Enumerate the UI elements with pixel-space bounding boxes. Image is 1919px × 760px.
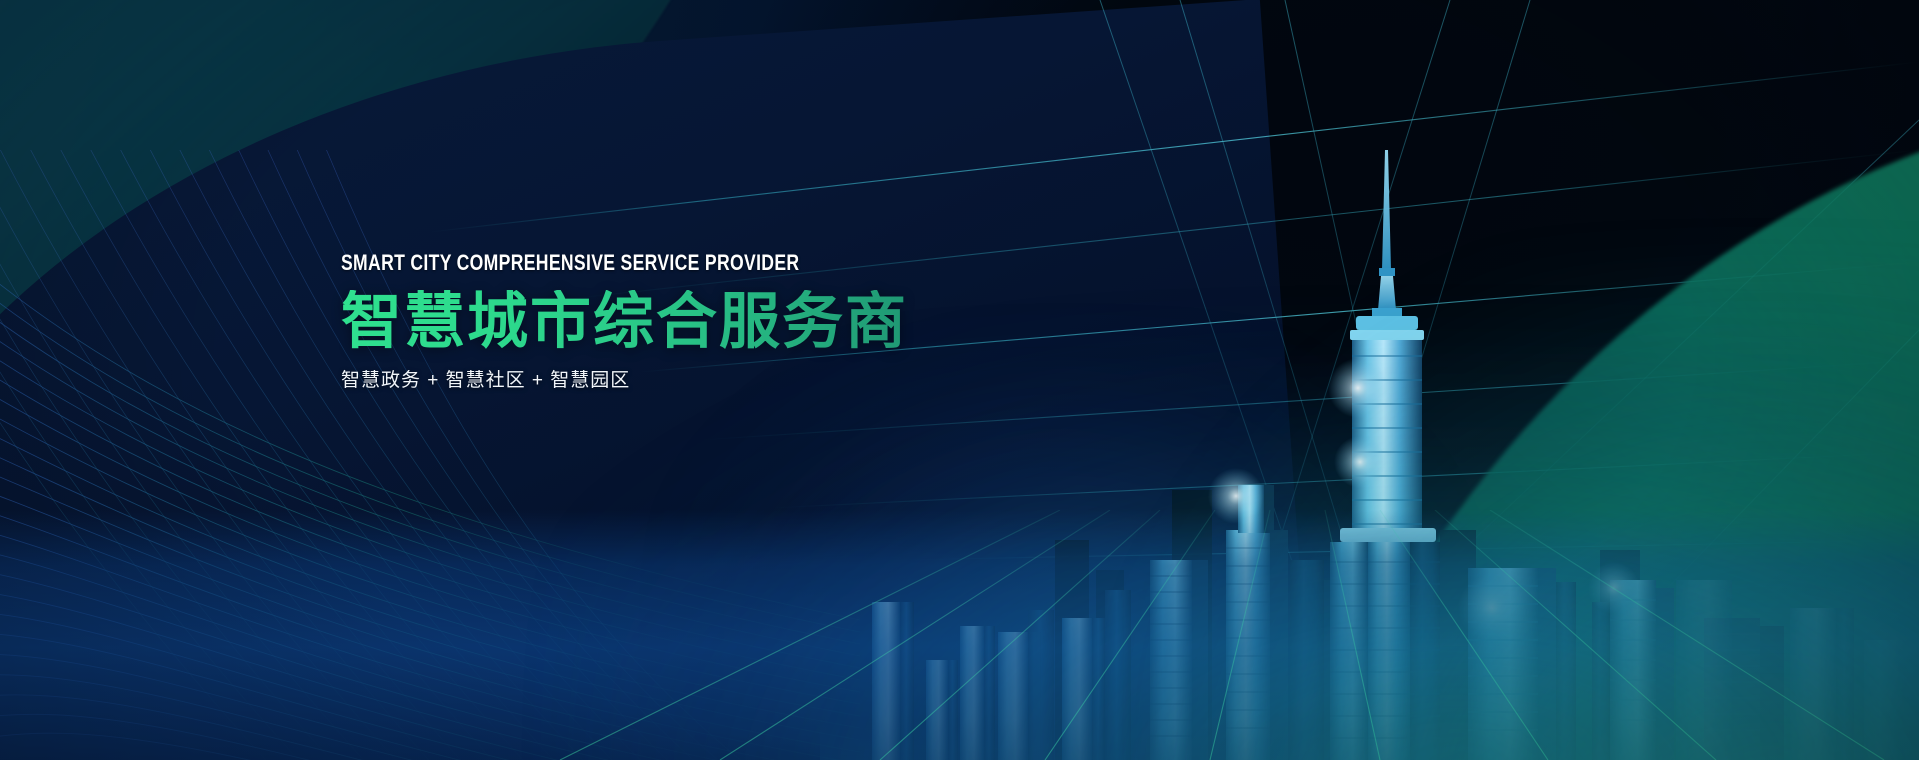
hero-headline: 智慧城市综合服务商 bbox=[341, 290, 1101, 353]
smart-city-hero-banner: SMART CITY COMPREHENSIVE SERVICE PROVIDE… bbox=[0, 0, 1919, 760]
hero-subline: 智慧政务 + 智慧社区 + 智慧园区 bbox=[341, 369, 1101, 394]
hero-eyebrow-tagline: SMART CITY COMPREHENSIVE SERVICE PROVIDE… bbox=[341, 252, 949, 274]
hero-copy-block: SMART CITY COMPREHENSIVE SERVICE PROVIDE… bbox=[341, 252, 1101, 394]
bottom-teal-haze bbox=[576, 340, 1919, 760]
